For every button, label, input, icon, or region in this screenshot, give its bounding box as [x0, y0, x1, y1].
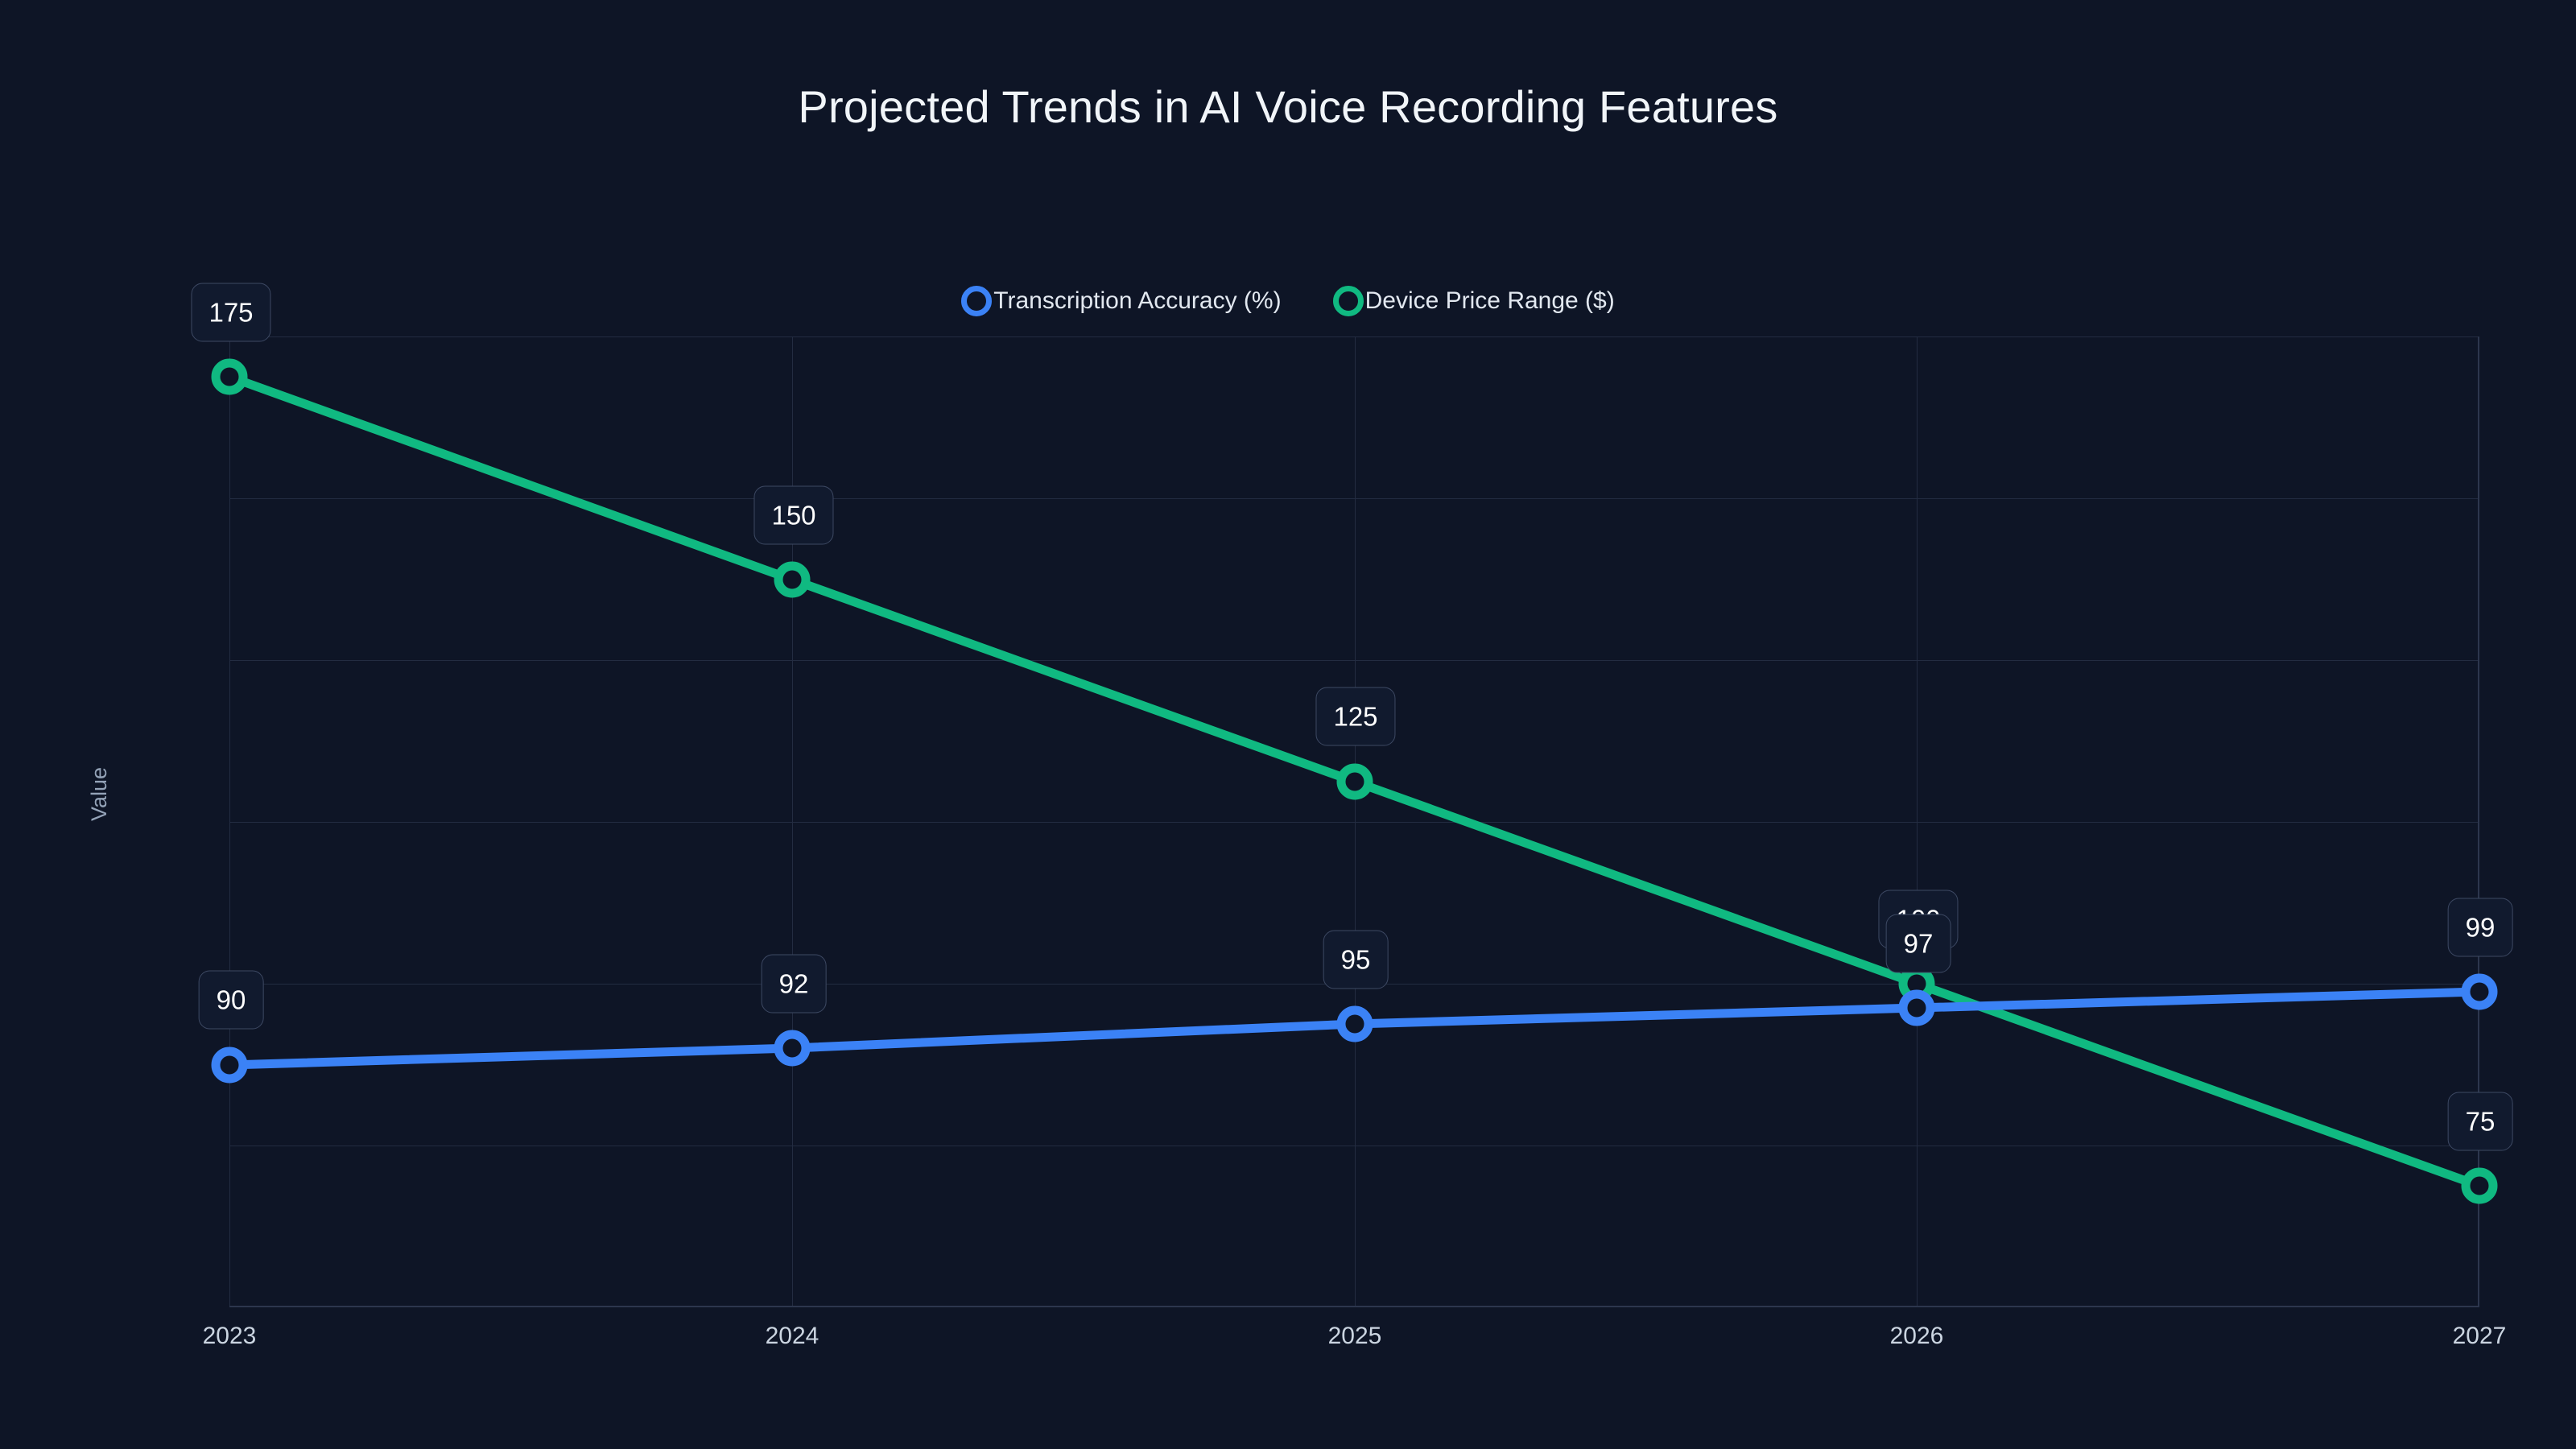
ring-marker-icon [1333, 286, 1364, 316]
x-tick-label: 2024 [766, 1324, 819, 1348]
data-point-marker[interactable] [2466, 978, 2493, 1005]
data-point-marker[interactable] [1341, 1010, 1368, 1038]
data-point-label: 99 [2448, 898, 2513, 957]
data-point-label: 175 [191, 283, 270, 342]
data-point-label: 125 [1315, 687, 1395, 746]
data-point-label: 150 [753, 486, 833, 545]
data-point-marker[interactable] [778, 1034, 806, 1062]
chart-legend: Transcription Accuracy (%) Device Price … [0, 286, 2576, 316]
legend-item-device-price-range[interactable]: Device Price Range ($) [1333, 286, 1615, 316]
chart-title: Projected Trends in AI Voice Recording F… [0, 85, 2576, 130]
data-point-marker[interactable] [778, 566, 806, 593]
x-tick-label: 2026 [1890, 1324, 1944, 1348]
data-point-label: 95 [1323, 931, 1389, 989]
data-point-marker[interactable] [1903, 994, 1930, 1022]
chart-container: Projected Trends in AI Voice Recording F… [0, 0, 2576, 1449]
data-point-label: 75 [2448, 1092, 2513, 1151]
ring-marker-icon [961, 286, 992, 316]
series-plot [229, 336, 2479, 1307]
legend-item-label: Transcription Accuracy (%) [993, 287, 1281, 315]
y-axis-label: Value [87, 767, 112, 821]
data-point-marker[interactable] [1341, 768, 1368, 795]
data-point-label: 92 [762, 955, 827, 1013]
data-point-marker[interactable] [216, 1051, 243, 1079]
data-point-label: 90 [199, 971, 264, 1030]
legend-item-label: Device Price Range ($) [1365, 287, 1615, 315]
data-point-marker[interactable] [2466, 1172, 2493, 1199]
x-tick-label: 2027 [2453, 1324, 2507, 1348]
x-tick-label: 2023 [203, 1324, 257, 1348]
legend-item-transcription-accuracy[interactable]: Transcription Accuracy (%) [961, 286, 1281, 316]
x-tick-label: 2025 [1328, 1324, 1382, 1348]
plot-area [229, 336, 2479, 1307]
data-point-label: 97 [1886, 914, 1951, 973]
data-point-marker[interactable] [216, 363, 243, 390]
